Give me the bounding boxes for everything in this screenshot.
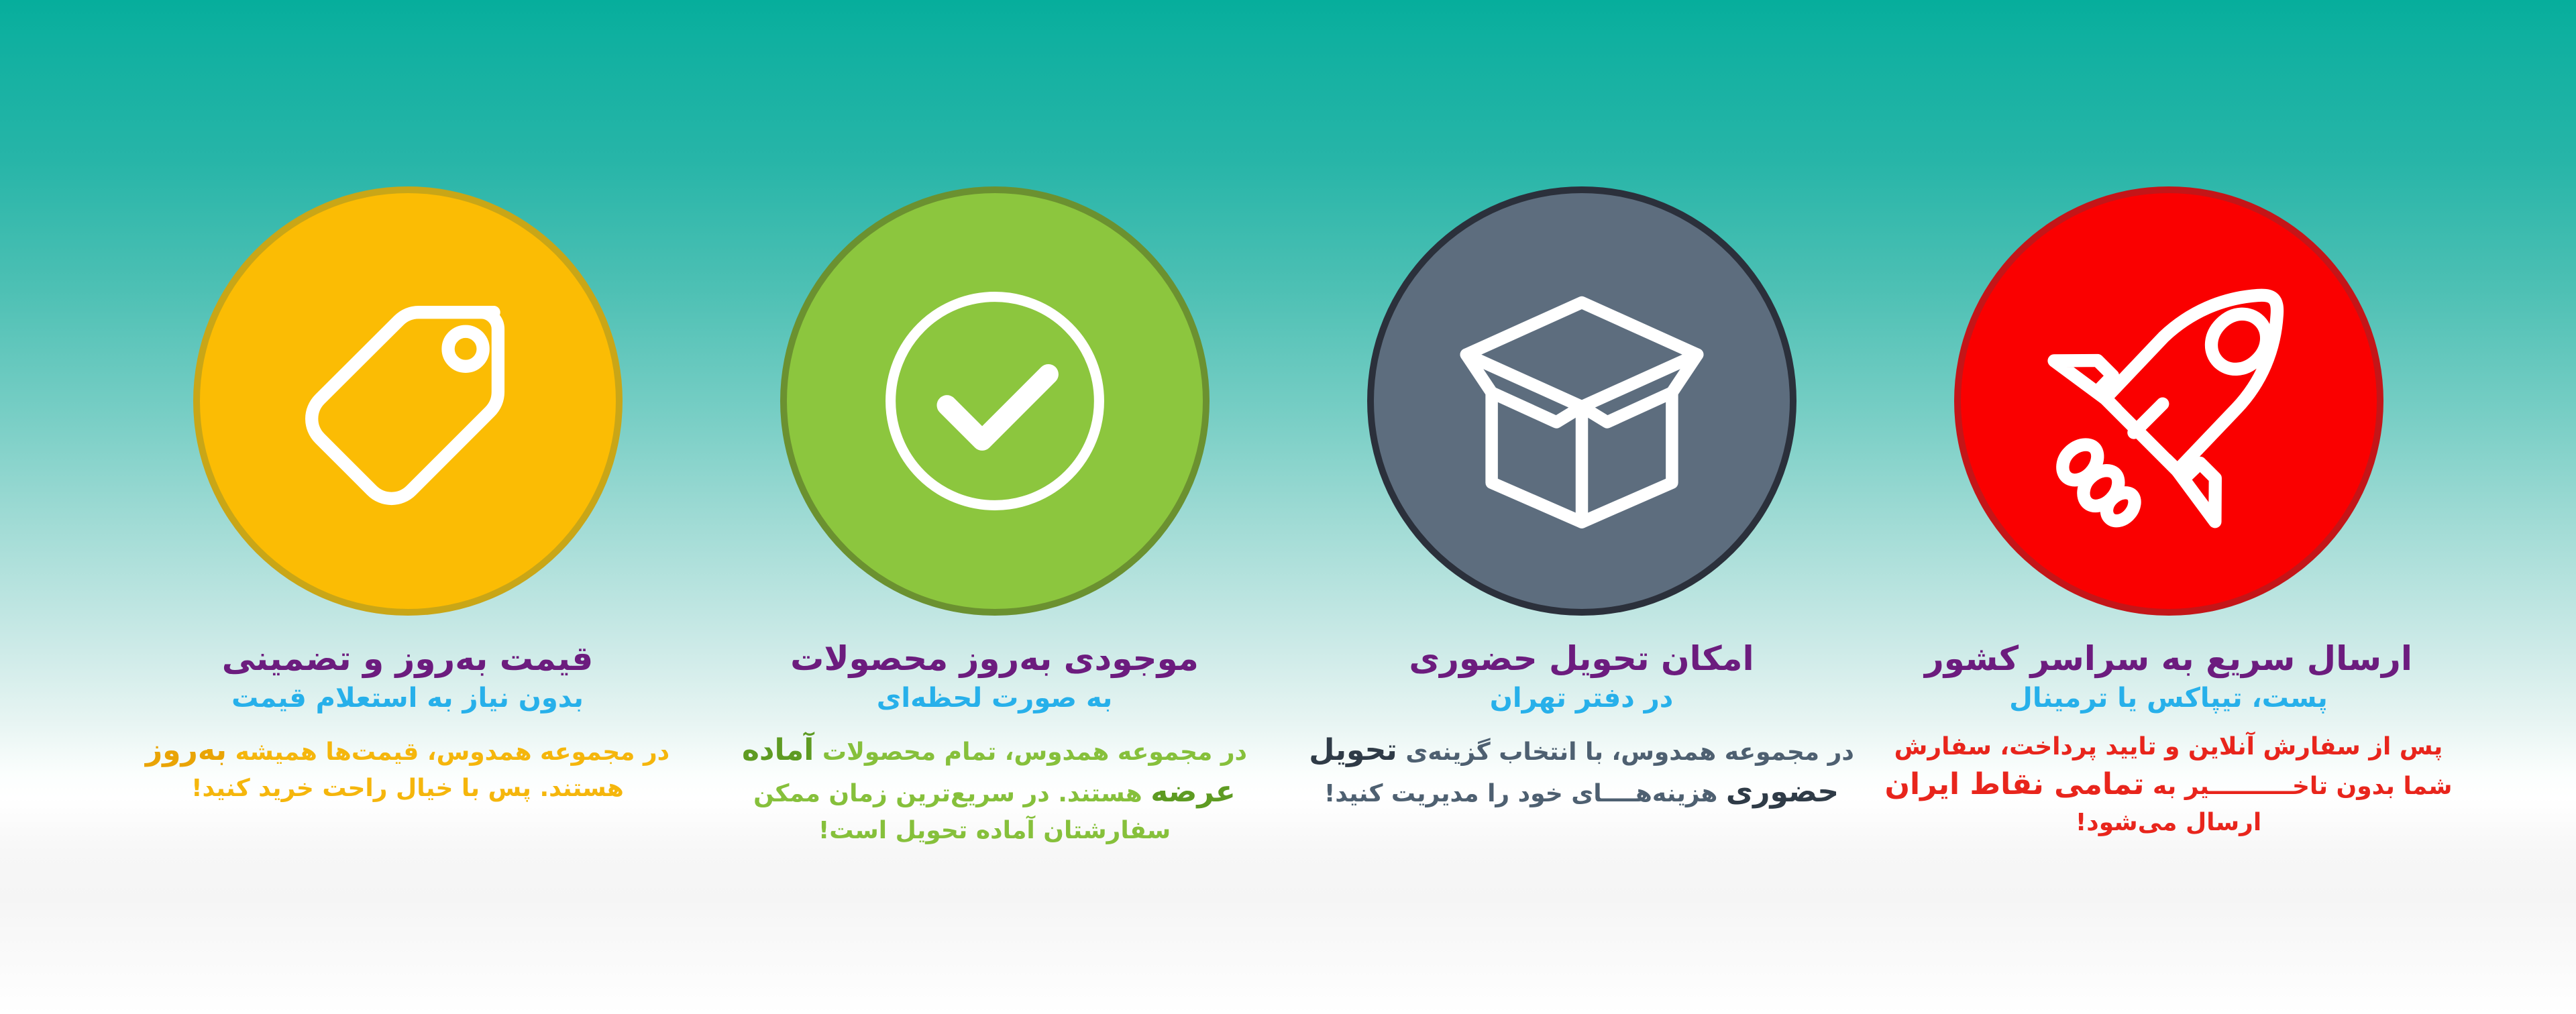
feature-columns: ارسال سریع به سراسر کشور پست، تیپاکس یا … [0,0,2576,1014]
body-suffix: ارسال می‌شود! [2076,809,2261,836]
open-box-badge[interactable] [1374,193,1790,609]
fast-shipping-titles: ارسال سریع به سراسر کشور پست، تیپاکس یا … [1875,638,2462,715]
body-suffix: هستند. در سریع‌ترین زمان ممکن سفارشتان آ… [753,780,1171,844]
body-prefix: در مجموعه همدوس، با انتخاب گزینه‌ی [1397,738,1854,766]
guaranteed-price-titles: قیمت به‌روز و تضمینی بدون نیاز به استعلا… [114,638,701,715]
feature-column-live-stock[interactable]: موجودی به‌روز محصولات به صورت لحظه‌ای در… [701,0,1288,848]
feature-column-in-person-pickup[interactable]: امکان تحویل حضوری در دفتر تهران در مجموع… [1288,0,1875,813]
body-text-in-person-pickup: در مجموعه همدوس، با انتخاب گزینه‌ی تحویل… [1288,730,1875,813]
in-person-pickup-titles: امکان تحویل حضوری در دفتر تهران [1288,638,1875,715]
subtitle-guaranteed-price: بدون نیاز به استعلام قیمت [114,682,701,715]
body-emphasis: به‌روز [146,733,227,767]
price-tag-badge[interactable] [200,193,616,609]
body-emphasis: تمامی نقاط ایران [1884,767,2144,801]
page-title-in-person-pickup: امکان تحویل حضوری [1288,638,1875,679]
body-prefix: در مجموعه همدوس، قیمت‌ها همیشه [227,738,669,766]
check-circle-badge[interactable] [787,193,1203,609]
rocket-icon [2028,260,2310,542]
body-text-fast-shipping: پس از سفارش آنلاین و تایید پرداخت، سفارش… [1875,730,2462,840]
features-banner: ارسال سریع به سراسر کشور پست، تیپاکس یا … [0,0,2576,1014]
page-title-guaranteed-price: قیمت به‌روز و تضمینی [114,638,701,679]
rocket-badge[interactable] [1961,193,2377,609]
page-title-fast-shipping: ارسال سریع به سراسر کشور [1875,638,2462,679]
subtitle-fast-shipping: پست، تیپاکس یا ترمینال [1875,682,2462,715]
subtitle-in-person-pickup: در دفتر تهران [1288,682,1875,715]
feature-column-fast-shipping[interactable]: ارسال سریع به سراسر کشور پست، تیپاکس یا … [1875,0,2462,840]
price-tag-icon [267,260,549,542]
body-text-live-stock: در مجموعه همدوس، تمام محصولات آماده عرضه… [701,730,1288,848]
body-text-guaranteed-price: در مجموعه همدوس، قیمت‌ها همیشه به‌روز هس… [114,730,701,806]
open-box-icon [1441,260,1723,542]
body-suffix: هستند. پس با خیال راحت خرید کنید! [191,775,624,802]
subtitle-live-stock: به صورت لحظه‌ای [701,682,1288,715]
live-stock-titles: موجودی به‌روز محصولات به صورت لحظه‌ای [701,638,1288,715]
body-suffix: هزینه‌هــــای خود را مدیریت کنید! [1324,780,1726,807]
body-prefix: در مجموعه همدوس، تمام محصولات [814,738,1247,766]
check-circle-icon [854,260,1136,542]
feature-column-guaranteed-price[interactable]: قیمت به‌روز و تضمینی بدون نیاز به استعلا… [114,0,701,805]
page-title-live-stock: موجودی به‌روز محصولات [701,638,1288,679]
